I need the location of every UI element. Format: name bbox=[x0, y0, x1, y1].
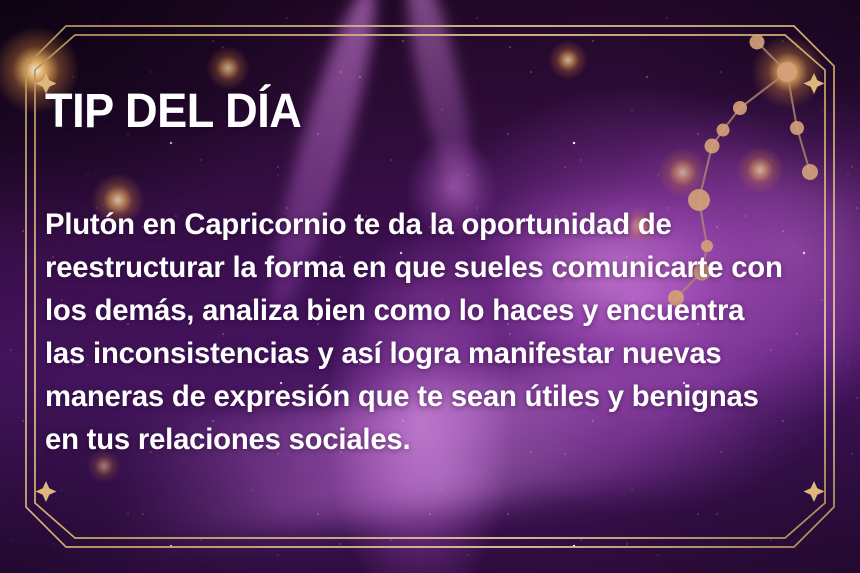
card-content: TIP DEL DÍA Plutón en Capricornio te da … bbox=[45, 0, 820, 573]
page-title: TIP DEL DÍA bbox=[45, 88, 301, 136]
tip-body-text: Plutón en Capricornio te da la oportunid… bbox=[45, 203, 786, 461]
horoscope-tip-card: TIP DEL DÍA Plutón en Capricornio te da … bbox=[0, 0, 860, 573]
